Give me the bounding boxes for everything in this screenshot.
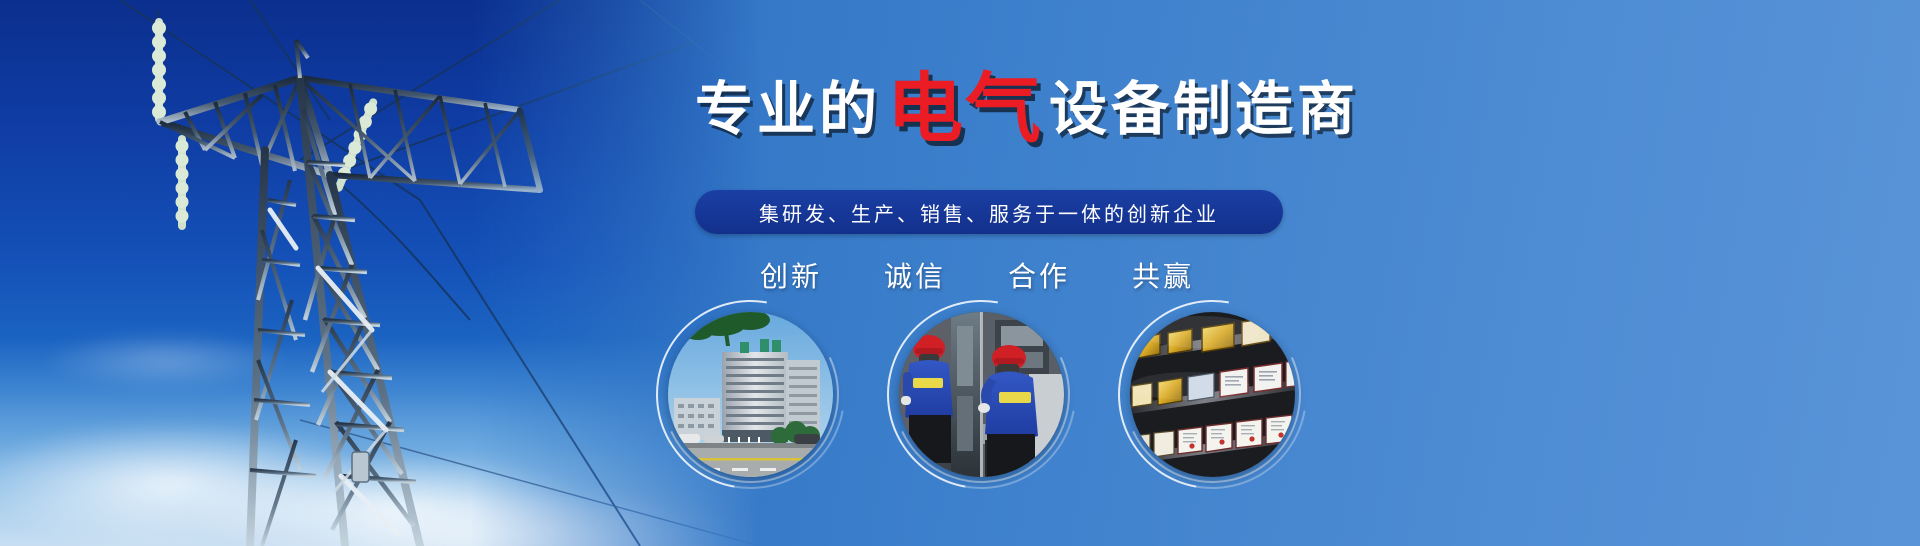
page-title: 专业的电气设备制造商 — [695, 72, 1359, 148]
keyword-item: 共赢 — [1132, 255, 1194, 295]
subtitle-pill: 集研发、生产、销售、服务于一体的创新企业 — [695, 190, 1283, 234]
headline-part-1: 专业的 — [695, 81, 881, 139]
keyword-list: 创新 诚信 合作 共赢 — [760, 255, 1194, 295]
hero-banner: 专业的电气设备制造商 集研发、生产、销售、服务于一体的创新企业 创新 诚信 合作… — [0, 0, 1920, 546]
keyword-item: 合作 — [1008, 255, 1070, 295]
certificates-wall-photo[interactable] — [1130, 312, 1295, 477]
headline-part-2: 设备制造商 — [1049, 81, 1359, 139]
circle-photo-3 — [1130, 312, 1295, 477]
headline-highlight: 电气 — [887, 72, 1043, 148]
banner-content: 专业的电气设备制造商 集研发、生产、销售、服务于一体的创新企业 创新 诚信 合作… — [620, 0, 1920, 546]
circle-photo-1 — [668, 312, 833, 477]
office-building-photo[interactable] — [668, 312, 833, 477]
keyword-item: 创新 — [760, 255, 822, 295]
circle-photo-2 — [899, 312, 1064, 477]
technicians-working-photo[interactable] — [899, 312, 1064, 477]
subtitle-text: 集研发、生产、销售、服务于一体的创新企业 — [759, 198, 1219, 227]
keyword-item: 诚信 — [884, 255, 946, 295]
circle-photo-gallery — [668, 312, 1295, 477]
